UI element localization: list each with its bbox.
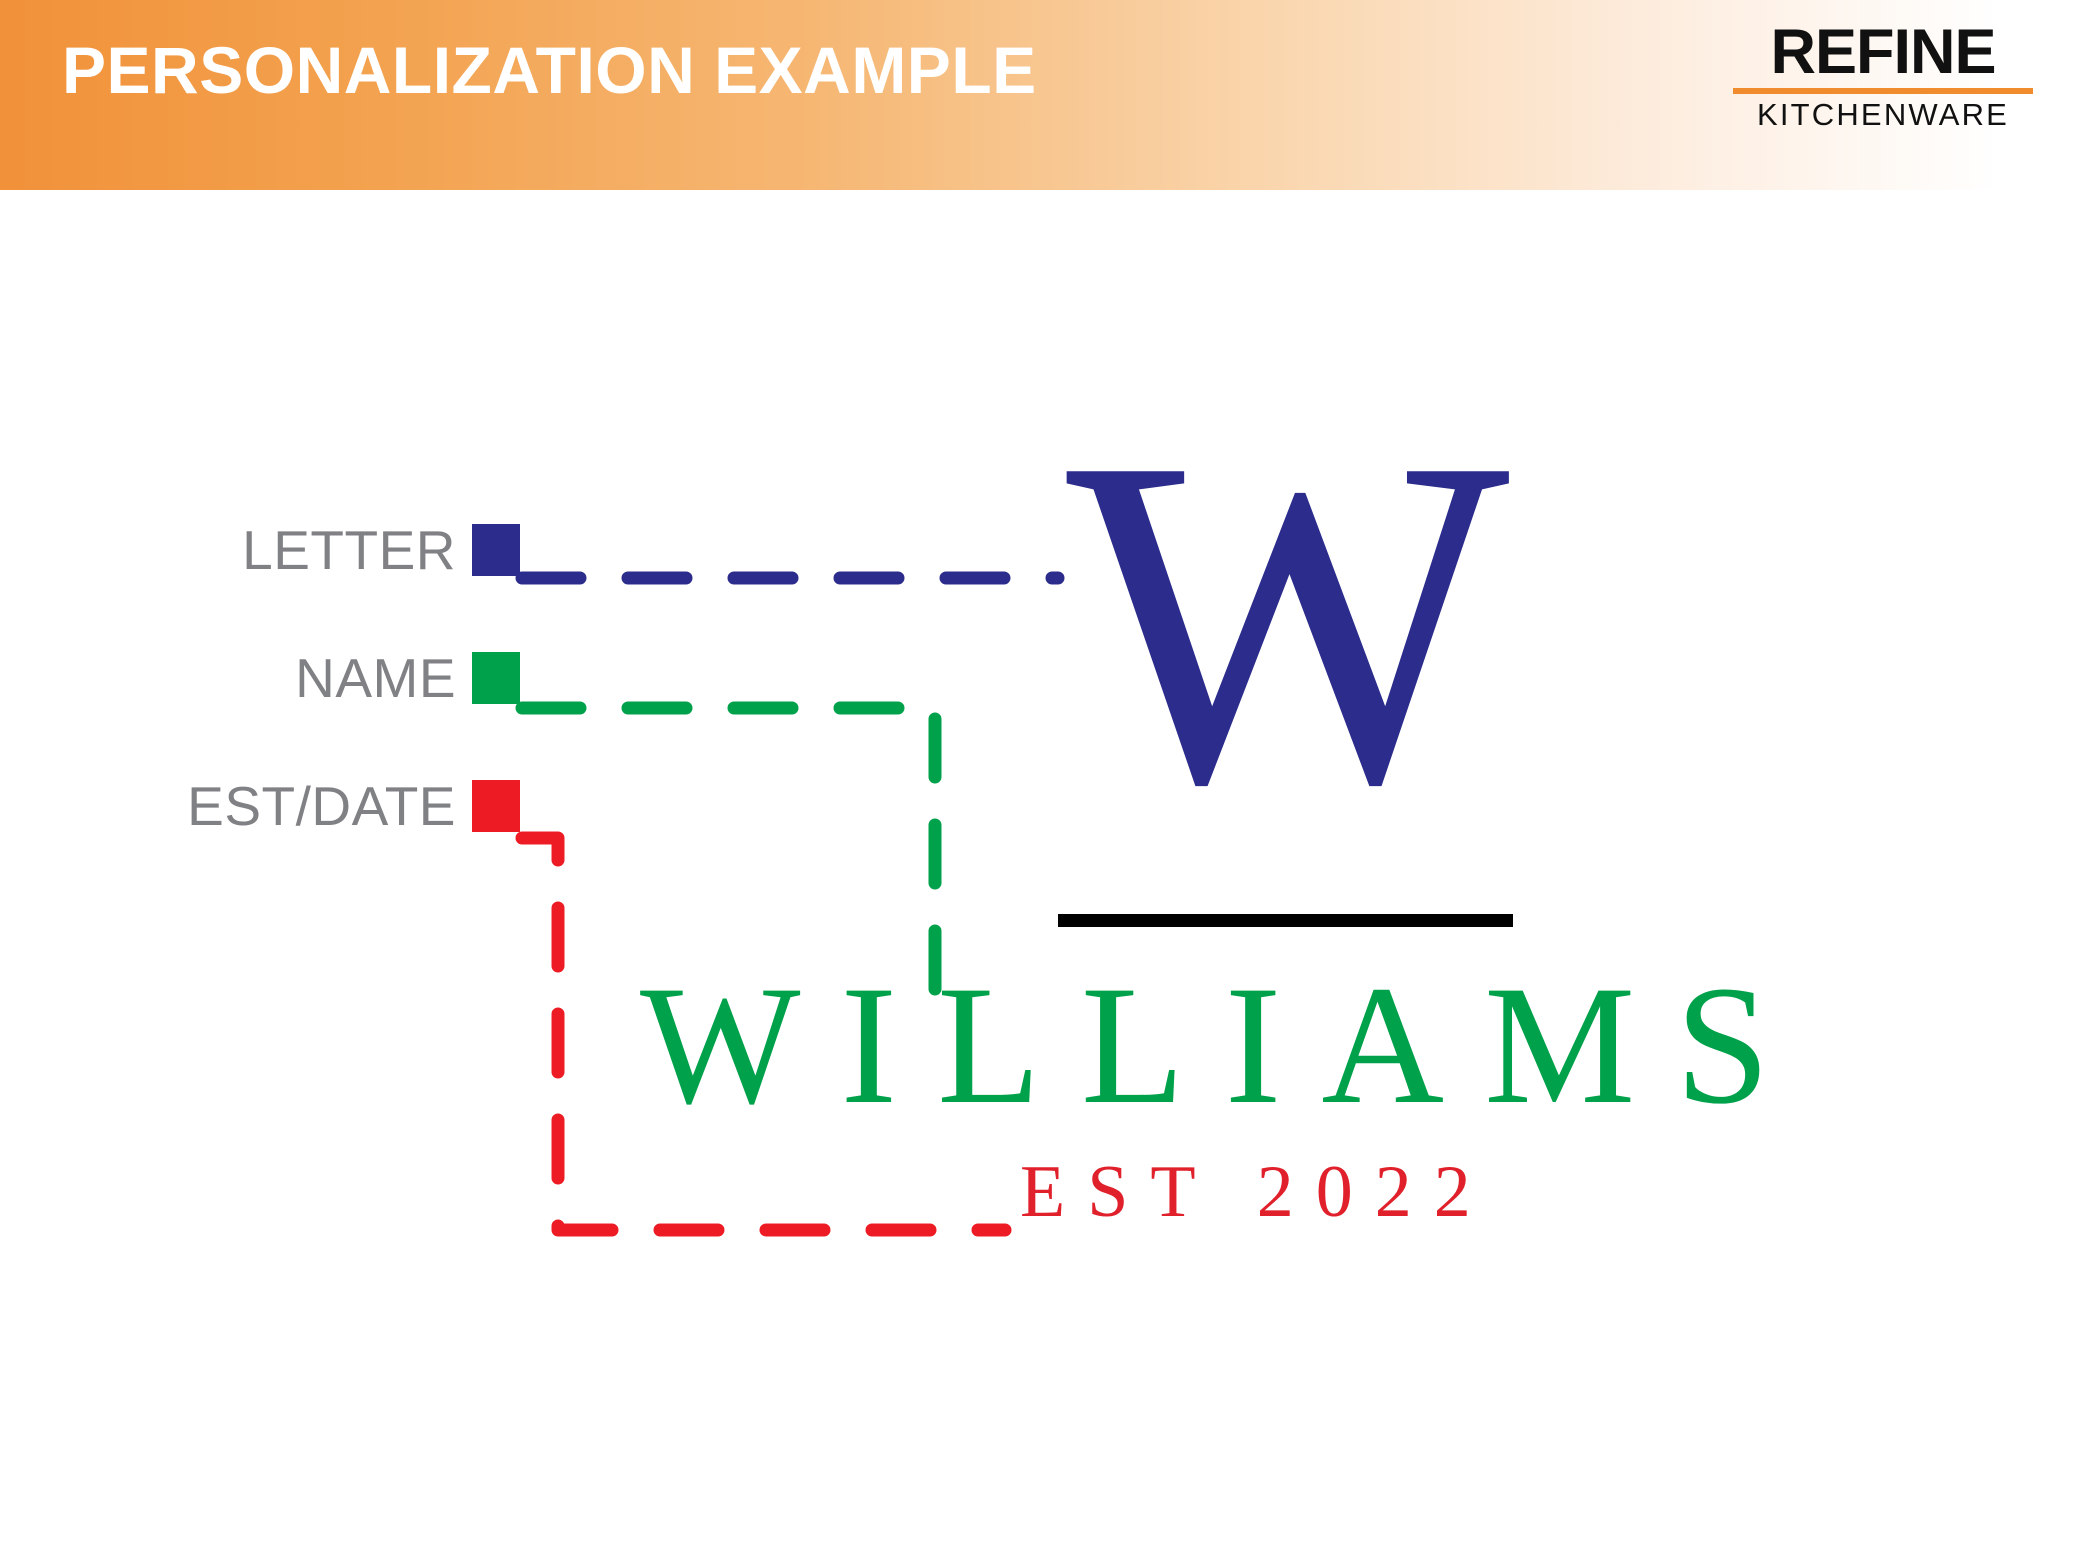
monogram-divider-rule xyxy=(1058,914,1513,927)
monogram-name: WILLIAMS xyxy=(640,960,2010,1130)
personalization-example-slide: PERSONALIZATION EXAMPLE REFINE KITCHENWA… xyxy=(0,0,2083,1563)
monogram-est: EST 2022 xyxy=(1020,1155,1660,1229)
monogram-artwork: W WILLIAMS EST 2022 xyxy=(0,0,2083,1563)
monogram-letter: W xyxy=(1058,400,1518,842)
